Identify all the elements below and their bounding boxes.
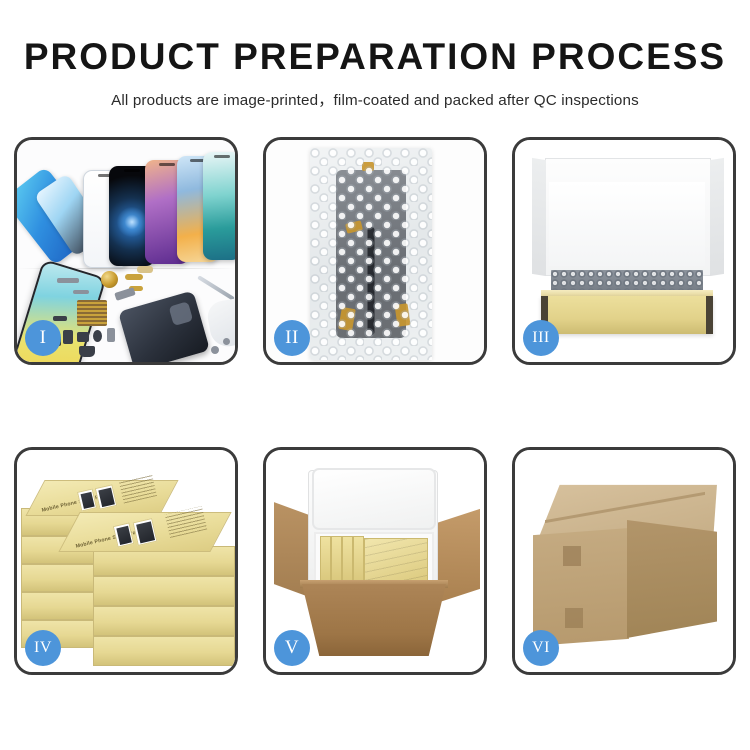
step-badge-2: II	[274, 320, 310, 356]
page-title: PRODUCT PREPARATION PROCESS	[0, 38, 750, 77]
yellow-box	[320, 536, 331, 584]
yellow-box	[353, 536, 364, 584]
carton-tape-mark	[563, 546, 581, 566]
styrofoam-lid	[312, 468, 436, 530]
small-part	[77, 332, 89, 342]
product-preparation-infographic: PRODUCT PREPARATION PROCESS All products…	[0, 0, 750, 750]
yellow-box	[331, 536, 342, 584]
small-part	[125, 274, 143, 280]
small-part	[137, 266, 153, 273]
carton-side-face	[627, 520, 717, 638]
small-part	[107, 328, 115, 342]
page-subtitle: All products are image-printed，film-coat…	[0, 88, 750, 110]
small-part	[53, 316, 67, 321]
step-badge-5: V	[274, 630, 310, 666]
bubble-wrap-bag	[310, 148, 432, 360]
small-part	[63, 330, 73, 344]
small-part	[93, 330, 102, 342]
step-badge-6: VI	[523, 630, 559, 666]
carton-front-face	[533, 528, 629, 646]
step-badge-3: III	[523, 320, 559, 356]
stacked-box	[93, 606, 235, 636]
process-steps-grid: I II	[14, 137, 736, 675]
carton-tape-mark	[565, 608, 583, 628]
step-panel-3: III	[512, 137, 736, 365]
foam-sheet	[549, 182, 705, 266]
speaker-module	[101, 271, 118, 288]
step-panel-1: I	[14, 137, 238, 365]
yellow-boxes-group	[320, 536, 426, 582]
screw	[211, 346, 219, 354]
carton-body	[302, 584, 446, 656]
phone-screen-teal	[203, 152, 235, 260]
step-panel-4: Mobile Phone Spare Parts Mobile Phone Sp…	[14, 447, 238, 675]
small-part	[73, 290, 89, 294]
small-part	[57, 278, 79, 283]
step-badge-4: IV	[25, 630, 61, 666]
step-panel-5: V	[263, 447, 487, 675]
stacked-box	[93, 576, 235, 606]
logic-board-part	[77, 300, 107, 326]
header: PRODUCT PREPARATION PROCESS All products…	[0, 0, 750, 110]
screw	[223, 338, 230, 345]
small-part	[79, 346, 95, 357]
yellow-box-flat-group	[364, 538, 428, 582]
stacked-box	[93, 636, 235, 666]
step-panel-6: VI	[512, 447, 736, 675]
bubble-texture	[310, 148, 432, 360]
kraft-box-front	[541, 296, 713, 334]
yellow-box	[342, 536, 353, 584]
step-panel-2: II	[263, 137, 487, 365]
step-badge-1: I	[25, 320, 61, 356]
